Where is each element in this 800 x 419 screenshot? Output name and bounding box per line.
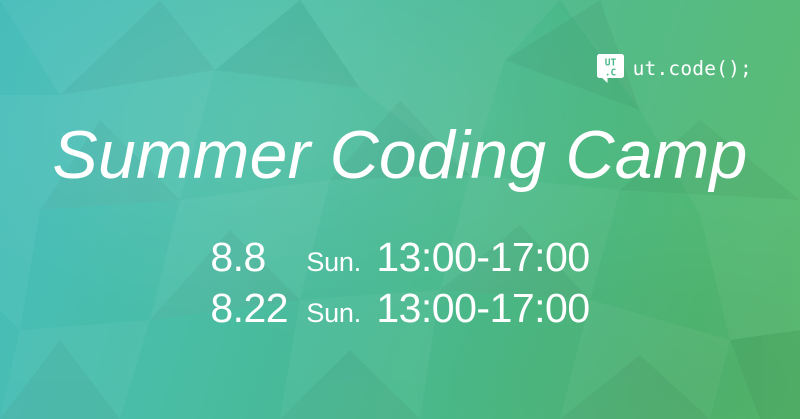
schedule-list: 8.8 Sun. 13:00-17:00 8.22 Sun. 13:00-17:… — [0, 234, 800, 332]
session-time: 13:00-17:00 — [376, 234, 589, 281]
session-date: 8.22 — [210, 285, 306, 332]
session-weekday: Sun. — [306, 247, 376, 278]
page-title: Summer Coding Camp — [0, 121, 800, 189]
brand-wordmark: ut.code(); — [633, 59, 752, 79]
ut-code-badge-icon: UT .C — [597, 54, 624, 83]
session-time: 13:00-17:00 — [376, 285, 589, 332]
session-weekday: Sun. — [306, 298, 376, 329]
session-date: 8.8 — [210, 234, 306, 281]
schedule-row: 8.8 Sun. 13:00-17:00 — [210, 234, 589, 281]
brand-lockup: UT .C ut.code(); — [597, 54, 752, 83]
schedule-row: 8.22 Sun. 13:00-17:00 — [210, 285, 589, 332]
svg-text:.C: .C — [604, 67, 616, 78]
event-poster: UT .C ut.code(); Summer Coding Camp 8.8 … — [0, 0, 800, 419]
